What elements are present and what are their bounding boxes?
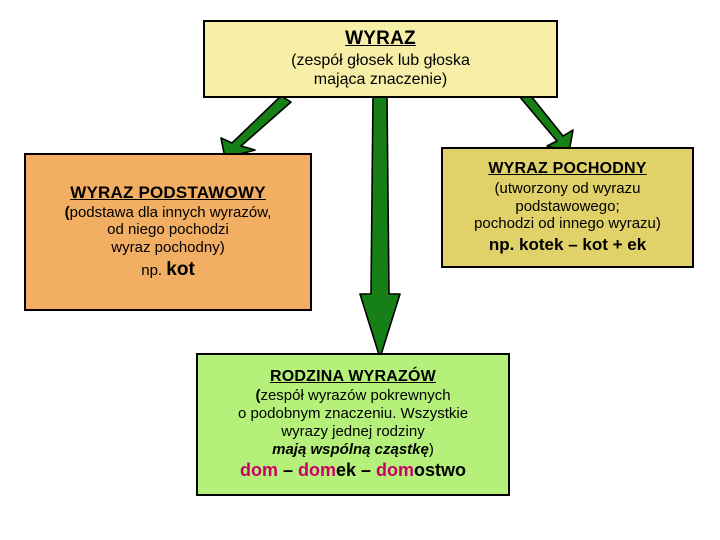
example-prefix: np. xyxy=(141,262,166,279)
paren-close: ) xyxy=(429,441,434,458)
node-wyraz-pochodny-line-2: podstawowego; xyxy=(515,198,619,216)
line-text: podstawa dla innych wyrazów, xyxy=(70,204,272,221)
italic-phrase: mają wspólną cząstkę xyxy=(272,441,429,458)
node-wyraz-pochodny-line-1: (utworzony od wyrazu xyxy=(495,180,641,198)
word-separator-1: – xyxy=(278,460,298,480)
node-wyraz-title: WYRAZ xyxy=(345,28,416,50)
node-rodzina-wyrazow-line-2: o podobnym znaczeniu. Wszystkie xyxy=(238,405,468,423)
node-rodzina-wyrazow-title: RODZINA WYRAZÓW xyxy=(270,368,436,387)
node-wyraz-line-2: mająca znaczenie) xyxy=(314,71,447,90)
node-wyraz-pochodny[interactable]: WYRAZ POCHODNY (utworzony od wyrazu pods… xyxy=(441,147,694,268)
node-wyraz-podstawowy[interactable]: WYRAZ PODSTAWOWY (podstawa dla innych wy… xyxy=(24,153,312,311)
node-wyraz[interactable]: WYRAZ (zespół głosek lub głoska mająca z… xyxy=(203,20,558,98)
node-wyraz-podstawowy-title: WYRAZ PODSTAWOWY xyxy=(70,183,266,203)
arrow-wyraz-to-rodzina xyxy=(355,96,405,358)
word-3-root: dom xyxy=(376,460,414,480)
word-separator-2: – xyxy=(356,460,376,480)
arrow-wyraz-to-podstawowy xyxy=(203,96,313,158)
word-2-root: dom xyxy=(298,460,336,480)
node-wyraz-podstawowy-line-3: wyraz pochodny) xyxy=(111,239,224,257)
node-wyraz-pochodny-title: WYRAZ POCHODNY xyxy=(488,160,646,179)
line-text: zespół wyrazów pokrewnych xyxy=(260,387,450,404)
node-wyraz-pochodny-example: np. kotek – kot + ek xyxy=(489,235,646,255)
node-rodzina-wyrazow-word-family: dom – domek – domostwo xyxy=(240,460,466,481)
word-3-suffix: ostwo xyxy=(414,460,466,480)
word-2-suffix: ek xyxy=(336,460,356,480)
node-wyraz-podstawowy-line-1: (podstawa dla innych wyrazów, xyxy=(65,204,272,222)
word-1-root: dom xyxy=(240,460,278,480)
node-rodzina-wyrazow[interactable]: RODZINA WYRAZÓW (zespół wyrazów pokrewny… xyxy=(196,353,510,496)
node-rodzina-wyrazow-line-4: mają wspólną cząstkę) xyxy=(272,441,434,459)
node-rodzina-wyrazow-line-1: (zespół wyrazów pokrewnych xyxy=(255,387,450,405)
node-wyraz-pochodny-line-3: pochodzi od innego wyrazu) xyxy=(474,215,661,233)
diagram-canvas: WYRAZ (zespół głosek lub głoska mająca z… xyxy=(0,0,720,540)
node-wyraz-podstawowy-line-2: od niego pochodzi xyxy=(107,221,229,239)
node-wyraz-line-1: (zespół głosek lub głoska xyxy=(291,52,470,71)
arrow-wyraz-to-pochodny xyxy=(505,96,591,152)
example-word: kot xyxy=(166,259,195,280)
node-wyraz-podstawowy-example: np. kot xyxy=(141,259,195,281)
node-rodzina-wyrazow-line-3: wyrazy jednej rodziny xyxy=(281,423,424,441)
